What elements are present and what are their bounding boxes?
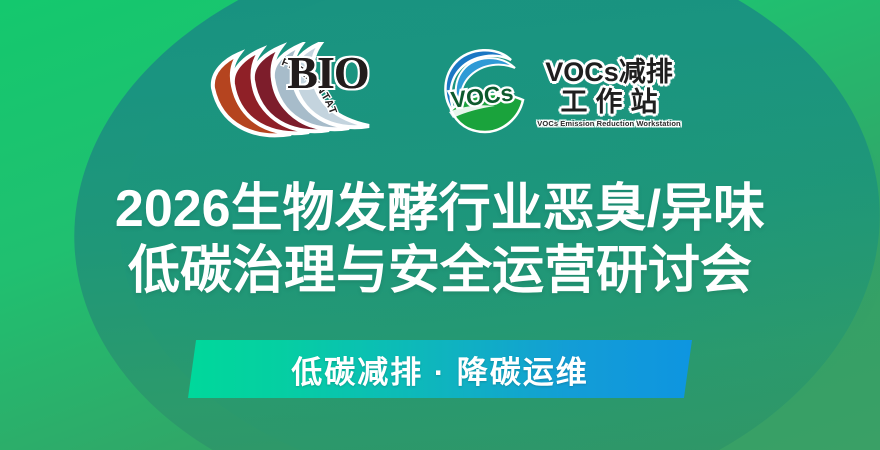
slogan-text: 低碳减排 · 降碳运维	[291, 347, 589, 392]
logo-row: FERMENTATION BIO BIO VOCs VOCs减排 工作站	[0, 38, 880, 146]
vocs-line1: VOCs减排	[545, 58, 673, 86]
poster-title: 2026生物发酵行业恶臭/异味 低碳治理与安全运营研讨会	[0, 178, 880, 302]
bio-fermentation-logo: FERMENTATION BIO BIO	[199, 42, 391, 142]
vocs-text-block: VOCs减排 工作站 VOCs Emission Reduction Works…	[537, 56, 680, 128]
title-line-1: 2026生物发酵行业恶臭/异味	[0, 178, 880, 240]
vocs-subtitle-english: VOCs Emission Reduction Workstation	[537, 119, 680, 128]
slogan-banner: 低碳减排 · 降碳运维	[188, 340, 692, 398]
title-line-2: 低碳治理与安全运营研讨会	[0, 240, 880, 302]
vocs-mark-icon: VOCs	[439, 48, 531, 136]
vocs-workstation-logo: VOCs VOCs减排 工作站 VOCs Emission Reduction …	[439, 46, 680, 138]
vocs-line2: 工作站	[552, 88, 665, 116]
event-poster: FERMENTATION BIO BIO VOCs VOCs减排 工作站	[0, 0, 880, 450]
bio-wordmark: BIO	[287, 46, 368, 99]
